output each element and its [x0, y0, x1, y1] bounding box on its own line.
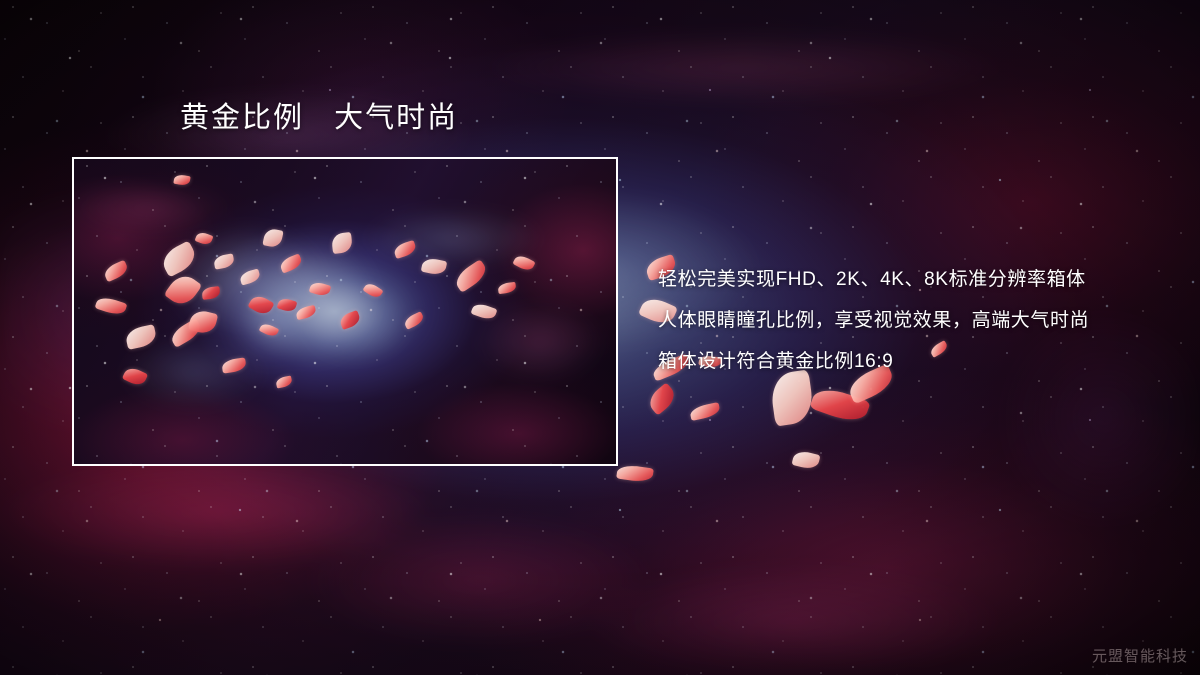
- body-text-block: 轻松完美实现FHD、2K、4K、8K标准分辨率箱体 人体眼睛瞳孔比例，享受视觉效…: [658, 259, 1158, 382]
- petal-icon: [791, 449, 820, 471]
- body-line: 轻松完美实现FHD、2K、4K、8K标准分辨率箱体: [658, 259, 1158, 300]
- petal-icon: [616, 464, 654, 484]
- petal-icon: [645, 382, 679, 415]
- framed-inset-image: [72, 157, 618, 466]
- watermark-label: 元盟智能科技: [1092, 645, 1188, 666]
- slide-canvas: 黄金比例 大气时尚 轻松完美实现FHD、2K、4K、8K标准分辨率箱体 人体眼睛…: [0, 0, 1200, 675]
- body-line: 人体眼睛瞳孔比例，享受视觉效果，高端大气时尚: [658, 300, 1158, 341]
- inset-nebula-core: [74, 159, 616, 464]
- petal-icon: [689, 402, 721, 421]
- petal-icon: [809, 383, 871, 427]
- page-title: 黄金比例 大气时尚: [180, 101, 458, 136]
- body-line: 箱体设计符合黄金比例16:9: [658, 341, 1158, 382]
